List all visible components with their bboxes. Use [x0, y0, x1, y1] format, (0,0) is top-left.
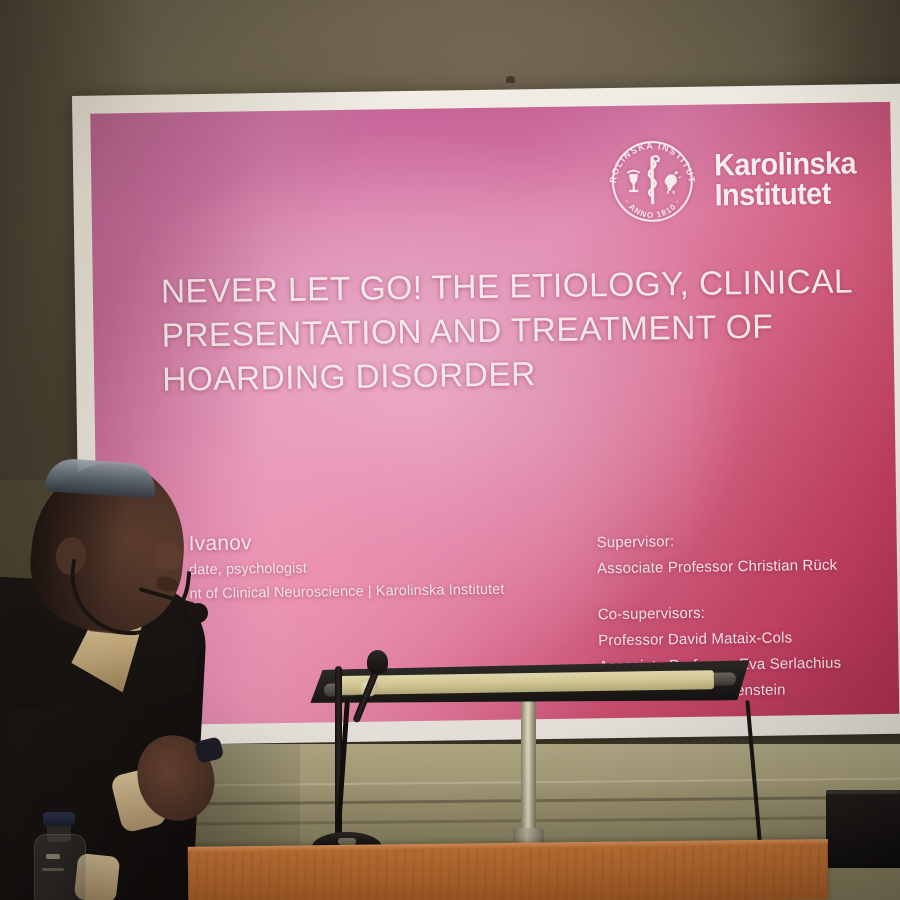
water-bottle[interactable]: [30, 812, 88, 900]
presentation-photo: KAROLINSKA INSTITUTET · ANNO 1810 ·: [0, 0, 900, 900]
cosupervisor-1: Professor David Mataix-Cols: [598, 625, 841, 655]
side-monitor: [826, 790, 900, 868]
karolinska-wordmark: Karolinska Institutet: [714, 148, 857, 210]
gooseneck-mic-capsule: [367, 650, 388, 674]
ceiling-mark: [506, 76, 515, 83]
cosupervisor-label: Co-supervisors:: [598, 599, 841, 629]
bottle-highlight-1: [46, 854, 60, 859]
supervisor-label: Supervisor:: [596, 527, 839, 557]
presenter-remote-clicker[interactable]: [194, 736, 225, 764]
side-monitor-top-edge: [826, 790, 900, 794]
bottle-body: [34, 834, 86, 900]
asclepius-seal-icon: KAROLINSKA INSTITUTET · ANNO 1810 ·: [604, 133, 701, 230]
bottle-cap: [43, 812, 75, 826]
karolinska-logo: KAROLINSKA INSTITUTET · ANNO 1810 ·: [604, 130, 868, 230]
wordmark-line-2: Institutet: [715, 178, 857, 210]
slide-title: NEVER LET GO! THE ETIOLOGY, CLINICAL PRE…: [161, 260, 863, 402]
supervisor-name: Associate Professor Christian Rück: [597, 553, 840, 583]
bottle-highlight-2: [42, 868, 64, 871]
headset-mic-capsule: [188, 603, 208, 623]
